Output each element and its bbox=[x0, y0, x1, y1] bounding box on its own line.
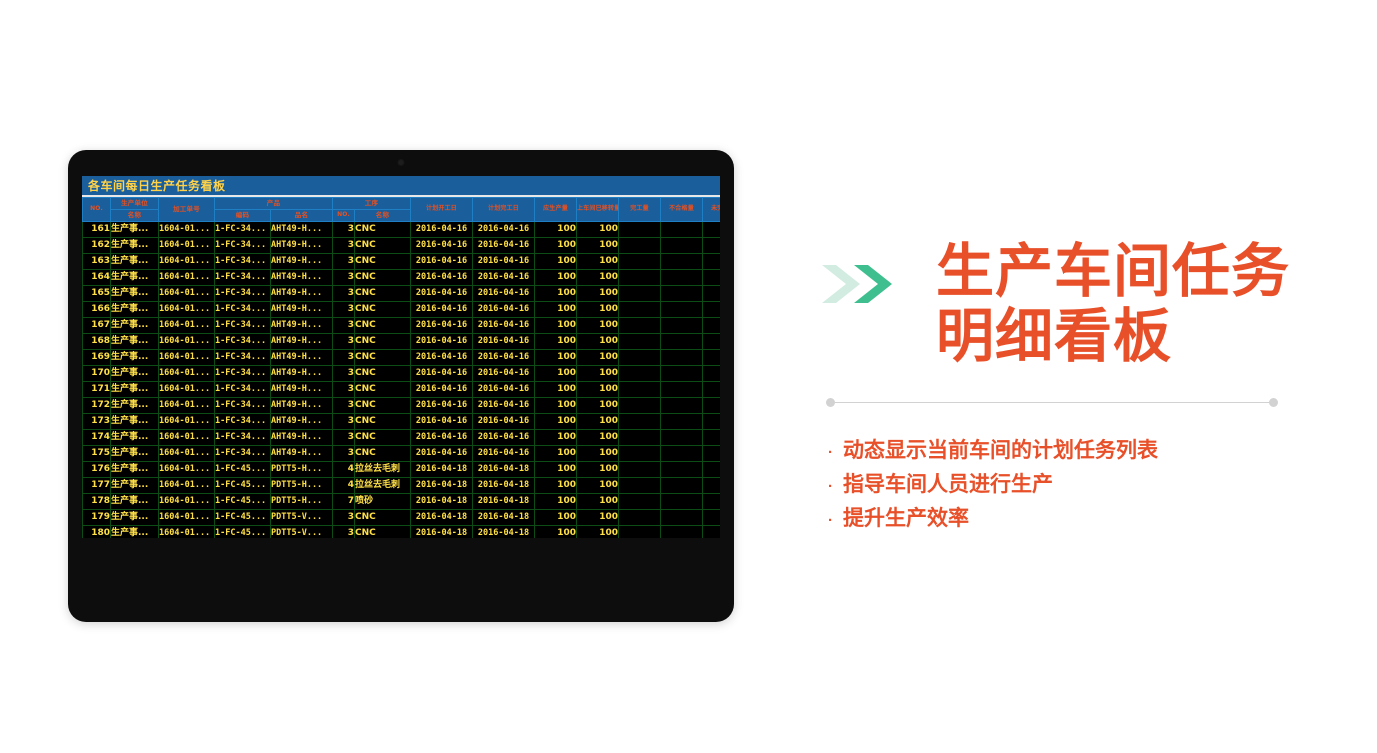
cell-unit: 生产事... bbox=[111, 430, 159, 446]
cell-bad bbox=[661, 254, 703, 270]
cell-opno: 3 bbox=[333, 398, 355, 414]
cell-done bbox=[619, 478, 661, 494]
cell-plan: 100 bbox=[535, 382, 577, 398]
cell-opname: CNC bbox=[355, 302, 411, 318]
cell-bad bbox=[661, 318, 703, 334]
cell-bad bbox=[661, 430, 703, 446]
cell-remain: 100 bbox=[703, 478, 721, 494]
cell-unit: 生产事... bbox=[111, 510, 159, 526]
cell-order: 1604-01... bbox=[159, 238, 215, 254]
cell-unit: 生产事... bbox=[111, 462, 159, 478]
cell-start: 2016-04-18 bbox=[411, 526, 473, 539]
cell-order: 1604-01... bbox=[159, 302, 215, 318]
cell-end: 2016-04-16 bbox=[473, 302, 535, 318]
cell-start: 2016-04-16 bbox=[411, 382, 473, 398]
divider bbox=[826, 398, 1278, 408]
cell-order: 1604-01... bbox=[159, 430, 215, 446]
cell-bad bbox=[661, 286, 703, 302]
cell-no: 164 bbox=[83, 270, 111, 286]
cell-end: 2016-04-18 bbox=[473, 494, 535, 510]
cell-bad bbox=[661, 222, 703, 238]
cell-order: 1604-01... bbox=[159, 270, 215, 286]
cell-opname: CNC bbox=[355, 366, 411, 382]
cell-remain: 100 bbox=[703, 446, 721, 462]
table-row[interactable]: 163生产事...1604-01...1-FC-34...AHT49-H...3… bbox=[83, 254, 721, 270]
table-row[interactable]: 166生产事...1604-01...1-FC-34...AHT49-H...3… bbox=[83, 302, 721, 318]
cell-bad bbox=[661, 478, 703, 494]
cell-unit: 生产事... bbox=[111, 398, 159, 414]
table-row[interactable]: 180生产事...1604-01...1-FC-45...PDTT5-V...3… bbox=[83, 526, 721, 539]
cell-done bbox=[619, 302, 661, 318]
table-row[interactable]: 179生产事...1604-01...1-FC-45...PDTT5-V...3… bbox=[83, 510, 721, 526]
list-item: ·动态显示当前车间的计划任务列表 bbox=[828, 434, 1290, 468]
cell-remain: 100 bbox=[703, 286, 721, 302]
cell-remain: 100 bbox=[703, 270, 721, 286]
divider-dot-right bbox=[1269, 398, 1278, 407]
table-row[interactable]: 173生产事...1604-01...1-FC-34...AHT49-H...3… bbox=[83, 414, 721, 430]
list-item-label: 提升生产效率 bbox=[843, 502, 969, 536]
cell-pname: PDTT5-V... bbox=[271, 526, 333, 539]
cell-remain: 100 bbox=[703, 494, 721, 510]
cell-end: 2016-04-16 bbox=[473, 270, 535, 286]
cell-opname: CNC bbox=[355, 270, 411, 286]
cell-remain: 100 bbox=[703, 382, 721, 398]
cell-done bbox=[619, 238, 661, 254]
cell-start: 2016-04-18 bbox=[411, 494, 473, 510]
cell-opname: CNC bbox=[355, 238, 411, 254]
cell-start: 2016-04-16 bbox=[411, 398, 473, 414]
cell-order: 1604-01... bbox=[159, 414, 215, 430]
cell-moved: 100 bbox=[577, 302, 619, 318]
cell-opname: CNC bbox=[355, 414, 411, 430]
cell-end: 2016-04-16 bbox=[473, 398, 535, 414]
cell-bad bbox=[661, 270, 703, 286]
cell-start: 2016-04-16 bbox=[411, 302, 473, 318]
list-item: ·指导车间人员进行生产 bbox=[828, 468, 1290, 502]
cell-unit: 生产事... bbox=[111, 238, 159, 254]
cell-done bbox=[619, 462, 661, 478]
cell-no: 177 bbox=[83, 478, 111, 494]
cell-pname: AHT49-H... bbox=[271, 350, 333, 366]
cell-opname: CNC bbox=[355, 254, 411, 270]
cell-end: 2016-04-18 bbox=[473, 462, 535, 478]
cell-order: 1604-01... bbox=[159, 382, 215, 398]
cell-bad bbox=[661, 366, 703, 382]
col-remain-qty[interactable]: 未完成量 bbox=[703, 198, 721, 222]
cell-bad bbox=[661, 462, 703, 478]
device-screen: 各车间每日生产任务看板 NO. 生产单位 加工单号 产品 工序 bbox=[82, 176, 720, 538]
cell-moved: 100 bbox=[577, 478, 619, 494]
cell-opno: 7 bbox=[333, 494, 355, 510]
cell-no: 180 bbox=[83, 526, 111, 539]
cell-moved: 100 bbox=[577, 398, 619, 414]
cell-remain: 100 bbox=[703, 254, 721, 270]
table-row[interactable]: 174生产事...1604-01...1-FC-34...AHT49-H...3… bbox=[83, 430, 721, 446]
cell-no: 173 bbox=[83, 414, 111, 430]
cell-opname: CNC bbox=[355, 334, 411, 350]
cell-order: 1604-01... bbox=[159, 318, 215, 334]
cell-pname: AHT49-H... bbox=[271, 366, 333, 382]
cell-bad bbox=[661, 414, 703, 430]
cell-pcode: 1-FC-45... bbox=[215, 462, 271, 478]
heading-row: 生产车间任务明细看板 bbox=[820, 240, 1290, 370]
cell-unit: 生产事... bbox=[111, 414, 159, 430]
cell-unit: 生产事... bbox=[111, 478, 159, 494]
cell-bad bbox=[661, 510, 703, 526]
table-row[interactable]: 176生产事...1604-01...1-FC-45...PDTT5-H...4… bbox=[83, 462, 721, 478]
cell-opname: 喷砂 bbox=[355, 494, 411, 510]
cell-unit: 生产事... bbox=[111, 382, 159, 398]
cell-done bbox=[619, 446, 661, 462]
cell-pname: PDTT5-H... bbox=[271, 494, 333, 510]
table-row[interactable]: 175生产事...1604-01...1-FC-34...AHT49-H...3… bbox=[83, 446, 721, 462]
table-row[interactable]: 165生产事...1604-01...1-FC-34...AHT49-H...3… bbox=[83, 286, 721, 302]
cell-pname: PDTT5-H... bbox=[271, 462, 333, 478]
cell-start: 2016-04-16 bbox=[411, 350, 473, 366]
cell-bad bbox=[661, 526, 703, 539]
col-operation-name[interactable]: 名称 bbox=[355, 210, 411, 222]
col-product-code[interactable]: 编码 bbox=[215, 210, 271, 222]
cell-end: 2016-04-16 bbox=[473, 318, 535, 334]
cell-pcode: 1-FC-34... bbox=[215, 350, 271, 366]
cell-pcode: 1-FC-34... bbox=[215, 302, 271, 318]
cell-done bbox=[619, 494, 661, 510]
cell-opno: 3 bbox=[333, 382, 355, 398]
cell-no: 178 bbox=[83, 494, 111, 510]
cell-end: 2016-04-18 bbox=[473, 510, 535, 526]
cell-bad bbox=[661, 238, 703, 254]
cell-pname: AHT49-H... bbox=[271, 318, 333, 334]
table-row[interactable]: 172生产事...1604-01...1-FC-34...AHT49-H...3… bbox=[83, 398, 721, 414]
cell-pname: AHT49-H... bbox=[271, 302, 333, 318]
cell-done bbox=[619, 366, 661, 382]
cell-end: 2016-04-16 bbox=[473, 222, 535, 238]
cell-plan: 100 bbox=[535, 302, 577, 318]
cell-end: 2016-04-16 bbox=[473, 446, 535, 462]
page-title: 生产车间任务明细看板 bbox=[936, 240, 1290, 370]
cell-start: 2016-04-16 bbox=[411, 430, 473, 446]
cell-end: 2016-04-16 bbox=[473, 366, 535, 382]
table-row[interactable]: 162生产事...1604-01...1-FC-34...AHT49-H...3… bbox=[83, 238, 721, 254]
cell-no: 171 bbox=[83, 382, 111, 398]
cell-moved: 100 bbox=[577, 270, 619, 286]
cell-done bbox=[619, 334, 661, 350]
list-item: ·提升生产效率 bbox=[828, 502, 1290, 536]
cell-bad bbox=[661, 382, 703, 398]
cell-plan: 100 bbox=[535, 270, 577, 286]
cell-moved: 100 bbox=[577, 222, 619, 238]
cell-plan: 100 bbox=[535, 254, 577, 270]
cell-moved: 100 bbox=[577, 350, 619, 366]
cell-opname: 拉丝去毛刺 bbox=[355, 462, 411, 478]
cell-plan: 100 bbox=[535, 238, 577, 254]
cell-moved: 100 bbox=[577, 446, 619, 462]
cell-done bbox=[619, 350, 661, 366]
cell-bad bbox=[661, 446, 703, 462]
cell-plan: 100 bbox=[535, 222, 577, 238]
cell-order: 1604-01... bbox=[159, 494, 215, 510]
cell-no: 165 bbox=[83, 286, 111, 302]
production-task-table: NO. 生产单位 加工单号 产品 工序 计划开工日 计划完工日 应生产量 上车间… bbox=[82, 197, 720, 538]
kanban-title-bar: 各车间每日生产任务看板 bbox=[82, 176, 720, 197]
cell-order: 1604-01... bbox=[159, 334, 215, 350]
col-plan-end[interactable]: 计划完工日 bbox=[473, 198, 535, 222]
cell-order: 1604-01... bbox=[159, 254, 215, 270]
cell-opno: 3 bbox=[333, 510, 355, 526]
cell-opname: CNC bbox=[355, 446, 411, 462]
cell-moved: 100 bbox=[577, 430, 619, 446]
cell-bad bbox=[661, 494, 703, 510]
table-row[interactable]: 167生产事...1604-01...1-FC-34...AHT49-H...3… bbox=[83, 318, 721, 334]
cell-order: 1604-01... bbox=[159, 366, 215, 382]
cell-pname: AHT49-H... bbox=[271, 334, 333, 350]
cell-opno: 3 bbox=[333, 286, 355, 302]
cell-end: 2016-04-16 bbox=[473, 382, 535, 398]
cell-unit: 生产事... bbox=[111, 366, 159, 382]
cell-done bbox=[619, 526, 661, 539]
cell-opno: 3 bbox=[333, 302, 355, 318]
table-row[interactable]: 178生产事...1604-01...1-FC-45...PDTT5-H...7… bbox=[83, 494, 721, 510]
cell-opname: CNC bbox=[355, 382, 411, 398]
cell-done bbox=[619, 414, 661, 430]
cell-remain: 100 bbox=[703, 398, 721, 414]
table-body: 161生产事...1604-01...1-FC-34...AHT49-H...3… bbox=[83, 222, 721, 539]
cell-pcode: 1-FC-34... bbox=[215, 222, 271, 238]
cell-opno: 3 bbox=[333, 350, 355, 366]
cell-plan: 100 bbox=[535, 334, 577, 350]
kanban-window-title: 各车间每日生产任务看板 bbox=[88, 177, 226, 194]
cell-order: 1604-01... bbox=[159, 286, 215, 302]
tablet-device-mockup: 各车间每日生产任务看板 NO. 生产单位 加工单号 产品 工序 bbox=[68, 150, 734, 622]
cell-order: 1604-01... bbox=[159, 398, 215, 414]
cell-plan: 100 bbox=[535, 350, 577, 366]
cell-opname: CNC bbox=[355, 526, 411, 539]
cell-plan: 100 bbox=[535, 478, 577, 494]
cell-plan: 100 bbox=[535, 430, 577, 446]
cell-pname: AHT49-H... bbox=[271, 398, 333, 414]
cell-pcode: 1-FC-45... bbox=[215, 494, 271, 510]
cell-moved: 100 bbox=[577, 526, 619, 539]
col-no[interactable]: NO. bbox=[83, 198, 111, 222]
col-defect-qty[interactable]: 不合格量 bbox=[661, 198, 703, 222]
cell-end: 2016-04-16 bbox=[473, 286, 535, 302]
cell-done bbox=[619, 254, 661, 270]
cell-order: 1604-01... bbox=[159, 446, 215, 462]
cell-opname: CNC bbox=[355, 318, 411, 334]
cell-remain: 100 bbox=[703, 222, 721, 238]
list-item-label: 动态显示当前车间的计划任务列表 bbox=[843, 434, 1158, 468]
cell-unit: 生产事... bbox=[111, 254, 159, 270]
bullet-marker-icon: · bbox=[828, 513, 833, 528]
cell-unit: 生产事... bbox=[111, 350, 159, 366]
col-plan-start[interactable]: 计划开工日 bbox=[411, 198, 473, 222]
table-row[interactable]: 169生产事...1604-01...1-FC-34...AHT49-H...3… bbox=[83, 350, 721, 366]
cell-end: 2016-04-16 bbox=[473, 430, 535, 446]
cell-unit: 生产事... bbox=[111, 270, 159, 286]
cell-pname: PDTT5-H... bbox=[271, 478, 333, 494]
cell-done bbox=[619, 286, 661, 302]
col-group-unit[interactable]: 生产单位 bbox=[111, 198, 159, 210]
cell-plan: 100 bbox=[535, 286, 577, 302]
cell-opno: 3 bbox=[333, 254, 355, 270]
cell-remain: 100 bbox=[703, 526, 721, 539]
cell-moved: 100 bbox=[577, 494, 619, 510]
cell-no: 163 bbox=[83, 254, 111, 270]
double-chevron-right-icon bbox=[820, 262, 896, 311]
cell-no: 172 bbox=[83, 398, 111, 414]
cell-plan: 100 bbox=[535, 462, 577, 478]
cell-opno: 3 bbox=[333, 446, 355, 462]
cell-opno: 3 bbox=[333, 366, 355, 382]
cell-unit: 生产事... bbox=[111, 318, 159, 334]
cell-moved: 100 bbox=[577, 382, 619, 398]
cell-opno: 3 bbox=[333, 270, 355, 286]
cell-remain: 100 bbox=[703, 302, 721, 318]
cell-plan: 100 bbox=[535, 318, 577, 334]
cell-no: 162 bbox=[83, 238, 111, 254]
col-moved-qty[interactable]: 上车间已移转量 bbox=[577, 198, 619, 222]
cell-done bbox=[619, 318, 661, 334]
table-row[interactable]: 161生产事...1604-01...1-FC-34...AHT49-H...3… bbox=[83, 222, 721, 238]
cell-remain: 100 bbox=[703, 318, 721, 334]
col-unit-name[interactable]: 名称 bbox=[111, 210, 159, 222]
cell-pcode: 1-FC-34... bbox=[215, 270, 271, 286]
cell-end: 2016-04-16 bbox=[473, 334, 535, 350]
cell-end: 2016-04-16 bbox=[473, 254, 535, 270]
cell-start: 2016-04-18 bbox=[411, 510, 473, 526]
cell-start: 2016-04-16 bbox=[411, 286, 473, 302]
cell-order: 1604-01... bbox=[159, 526, 215, 539]
cell-start: 2016-04-16 bbox=[411, 254, 473, 270]
cell-unit: 生产事... bbox=[111, 302, 159, 318]
cell-no: 167 bbox=[83, 318, 111, 334]
table-row[interactable]: 168生产事...1604-01...1-FC-34...AHT49-H...3… bbox=[83, 334, 721, 350]
cell-pname: AHT49-H... bbox=[271, 286, 333, 302]
cell-opname: CNC bbox=[355, 350, 411, 366]
cell-no: 169 bbox=[83, 350, 111, 366]
cell-pcode: 1-FC-34... bbox=[215, 414, 271, 430]
cell-pname: AHT49-H... bbox=[271, 238, 333, 254]
camera-icon bbox=[398, 159, 405, 166]
col-operation-no[interactable]: NO. bbox=[333, 210, 355, 222]
cell-pname: AHT49-H... bbox=[271, 254, 333, 270]
cell-unit: 生产事... bbox=[111, 222, 159, 238]
cell-order: 1604-01... bbox=[159, 478, 215, 494]
cell-opno: 4 bbox=[333, 478, 355, 494]
kanban-application: 各车间每日生产任务看板 NO. 生产单位 加工单号 产品 工序 bbox=[82, 176, 720, 538]
cell-moved: 100 bbox=[577, 238, 619, 254]
col-product-name[interactable]: 品名 bbox=[271, 210, 333, 222]
cell-opno: 3 bbox=[333, 414, 355, 430]
cell-pname: AHT49-H... bbox=[271, 414, 333, 430]
cell-opname: CNC bbox=[355, 398, 411, 414]
cell-plan: 100 bbox=[535, 494, 577, 510]
cell-plan: 100 bbox=[535, 526, 577, 539]
cell-unit: 生产事... bbox=[111, 526, 159, 539]
cell-end: 2016-04-16 bbox=[473, 350, 535, 366]
table-header: NO. 生产单位 加工单号 产品 工序 计划开工日 计划完工日 应生产量 上车间… bbox=[83, 198, 721, 222]
table-row[interactable]: 177生产事...1604-01...1-FC-45...PDTT5-H...4… bbox=[83, 478, 721, 494]
col-order-no[interactable]: 加工单号 bbox=[159, 198, 215, 222]
cell-pcode: 1-FC-34... bbox=[215, 318, 271, 334]
cell-unit: 生产事... bbox=[111, 334, 159, 350]
table-row[interactable]: 164生产事...1604-01...1-FC-34...AHT49-H...3… bbox=[83, 270, 721, 286]
cell-bad bbox=[661, 398, 703, 414]
cell-pcode: 1-FC-34... bbox=[215, 446, 271, 462]
cell-done bbox=[619, 398, 661, 414]
cell-opname: CNC bbox=[355, 510, 411, 526]
cell-done bbox=[619, 382, 661, 398]
cell-pcode: 1-FC-34... bbox=[215, 366, 271, 382]
cell-pcode: 1-FC-34... bbox=[215, 238, 271, 254]
cell-done bbox=[619, 430, 661, 446]
cell-order: 1604-01... bbox=[159, 350, 215, 366]
cell-opno: 3 bbox=[333, 238, 355, 254]
cell-no: 166 bbox=[83, 302, 111, 318]
cell-opname: 拉丝去毛刺 bbox=[355, 478, 411, 494]
table-row[interactable]: 170生产事...1604-01...1-FC-34...AHT49-H...3… bbox=[83, 366, 721, 382]
cell-pname: AHT49-H... bbox=[271, 270, 333, 286]
table-row[interactable]: 171生产事...1604-01...1-FC-34...AHT49-H...3… bbox=[83, 382, 721, 398]
cell-unit: 生产事... bbox=[111, 446, 159, 462]
cell-no: 179 bbox=[83, 510, 111, 526]
cell-start: 2016-04-18 bbox=[411, 478, 473, 494]
col-group-operation[interactable]: 工序 bbox=[333, 198, 411, 210]
cell-moved: 100 bbox=[577, 286, 619, 302]
cell-start: 2016-04-16 bbox=[411, 366, 473, 382]
cell-opno: 3 bbox=[333, 318, 355, 334]
cell-pcode: 1-FC-45... bbox=[215, 510, 271, 526]
cell-opname: CNC bbox=[355, 286, 411, 302]
col-plan-qty[interactable]: 应生产量 bbox=[535, 198, 577, 222]
cell-pcode: 1-FC-34... bbox=[215, 254, 271, 270]
cell-start: 2016-04-16 bbox=[411, 222, 473, 238]
cell-remain: 100 bbox=[703, 430, 721, 446]
cell-plan: 100 bbox=[535, 366, 577, 382]
cell-bad bbox=[661, 350, 703, 366]
cell-plan: 100 bbox=[535, 398, 577, 414]
cell-remain: 100 bbox=[703, 350, 721, 366]
cell-done bbox=[619, 222, 661, 238]
cell-no: 175 bbox=[83, 446, 111, 462]
col-done-qty[interactable]: 完工量 bbox=[619, 198, 661, 222]
cell-moved: 100 bbox=[577, 462, 619, 478]
cell-start: 2016-04-16 bbox=[411, 446, 473, 462]
cell-pname: AHT49-H... bbox=[271, 382, 333, 398]
cell-plan: 100 bbox=[535, 446, 577, 462]
cell-pcode: 1-FC-45... bbox=[215, 526, 271, 539]
cell-opno: 3 bbox=[333, 526, 355, 539]
cell-done bbox=[619, 510, 661, 526]
cell-remain: 100 bbox=[703, 334, 721, 350]
col-group-product[interactable]: 产品 bbox=[215, 198, 333, 210]
cell-pname: AHT49-H... bbox=[271, 430, 333, 446]
cell-remain: 100 bbox=[703, 510, 721, 526]
cell-pname: PDTT5-V... bbox=[271, 510, 333, 526]
cell-remain: 100 bbox=[703, 238, 721, 254]
cell-end: 2016-04-16 bbox=[473, 238, 535, 254]
cell-pcode: 1-FC-34... bbox=[215, 430, 271, 446]
feature-bullet-list: ·动态显示当前车间的计划任务列表·指导车间人员进行生产·提升生产效率 bbox=[828, 434, 1290, 536]
cell-end: 2016-04-16 bbox=[473, 414, 535, 430]
cell-opno: 3 bbox=[333, 430, 355, 446]
cell-end: 2016-04-18 bbox=[473, 526, 535, 539]
cell-bad bbox=[661, 334, 703, 350]
table-header-row-top: NO. 生产单位 加工单号 产品 工序 计划开工日 计划完工日 应生产量 上车间… bbox=[83, 198, 721, 210]
cell-pname: AHT49-H... bbox=[271, 446, 333, 462]
cell-no: 170 bbox=[83, 366, 111, 382]
list-item-label: 指导车间人员进行生产 bbox=[843, 468, 1053, 502]
